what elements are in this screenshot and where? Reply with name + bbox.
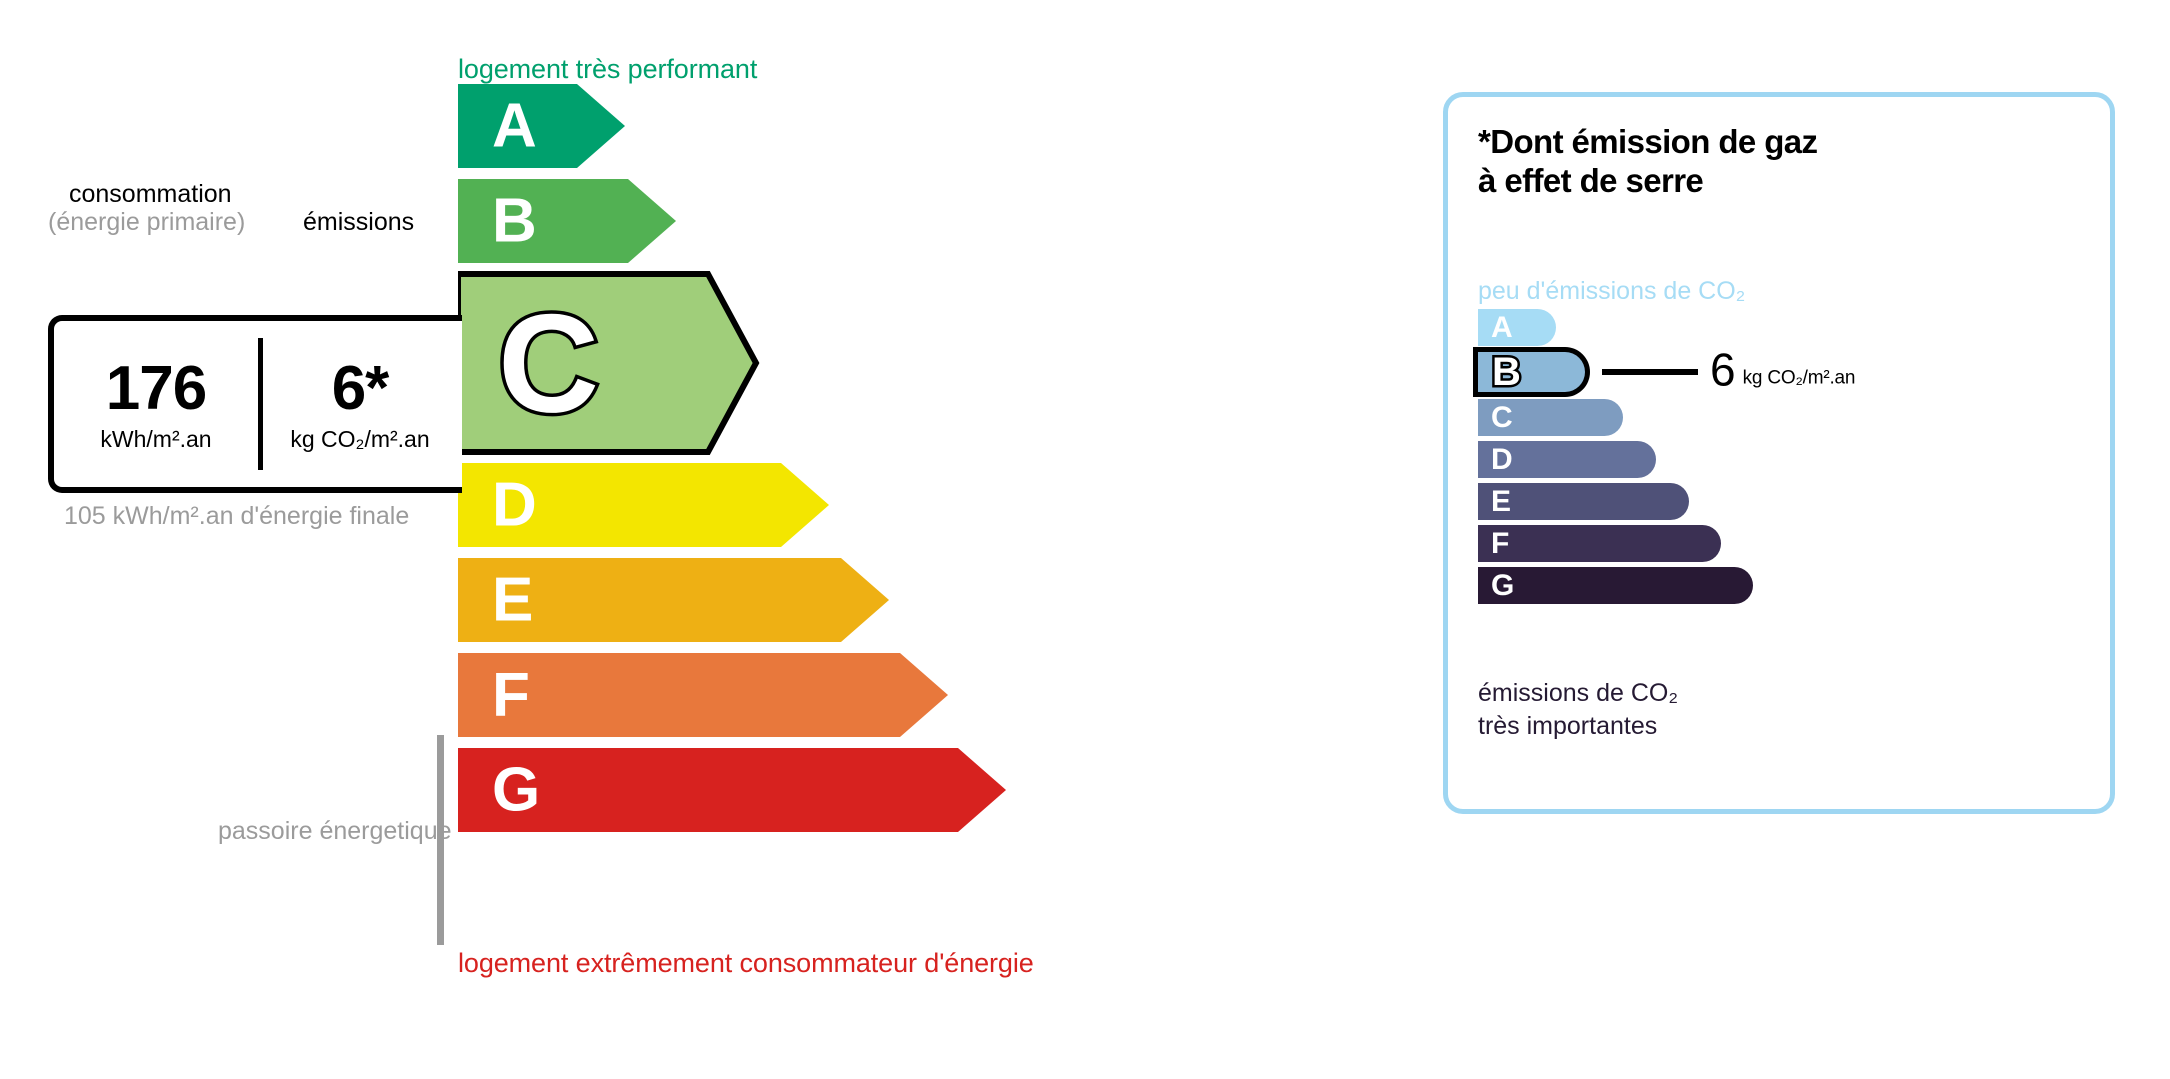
energy-bar-letter: C xyxy=(498,285,599,442)
label-passoire-energetique: passoire énergetique xyxy=(218,815,418,849)
label-energie-primaire: (énergie primaire) xyxy=(48,208,245,237)
consumption-unit: kWh/m².an xyxy=(100,428,211,451)
co2-bar-shape xyxy=(1478,309,1556,346)
energy-bar-letter: D xyxy=(492,471,537,540)
emission-cell: 6* kg CO₂/m².an xyxy=(258,321,462,487)
emission-value: 6* xyxy=(332,358,389,420)
co2-bar-shape xyxy=(1478,483,1689,520)
co2-bar-shape xyxy=(1478,347,1590,397)
co2-value-unit: kg CO₂/m².an xyxy=(1743,368,1856,389)
co2-emissions-panel: *Dont émission de gaz à effet de serre p… xyxy=(1443,92,2115,814)
energy-bar-letter: G xyxy=(492,756,540,825)
energy-bar-f: F xyxy=(458,653,948,737)
co2-bottom-caption: émissions de CO₂ très importantes xyxy=(1478,677,1678,743)
emission-unit: kg CO₂/m².an xyxy=(290,428,429,451)
value-box: 176 kWh/m².an 6* kg CO₂/m².an xyxy=(48,315,462,493)
energy-bar-c: C xyxy=(458,274,756,452)
consumption-value: 176 xyxy=(106,358,206,420)
energy-bar-letter: A xyxy=(492,92,537,161)
energy-bar-a: A xyxy=(458,84,625,168)
energy-bar-shape xyxy=(458,179,676,263)
co2-panel-title: *Dont émission de gaz à effet de serre xyxy=(1478,123,1817,201)
energy-bottom-caption: logement extrêmement consommateur d'éner… xyxy=(458,948,1034,979)
co2-value-connector xyxy=(1602,369,1698,375)
energy-consumption-panel: logement très performant ABCDEFG logemen… xyxy=(0,0,1340,1079)
energy-bar-b: B xyxy=(458,179,676,263)
energy-bar-shape xyxy=(458,84,625,168)
dpe-energy-label: logement très performant ABCDEFG logemen… xyxy=(0,0,2170,1079)
co2-bar-shape xyxy=(1478,567,1753,604)
energy-bar-shape xyxy=(458,653,948,737)
co2-value: 6kg CO₂/m².an xyxy=(1710,347,1855,393)
energy-bar-letter: B xyxy=(492,187,537,256)
consumption-cell: 176 kWh/m².an xyxy=(54,321,258,487)
energy-bar-g: G xyxy=(458,748,1006,832)
energy-bar-e: E xyxy=(458,558,889,642)
energy-class-bars: ABCDEFG xyxy=(458,84,1098,853)
label-energie-finale: 105 kWh/m².an d'énergie finale xyxy=(64,500,409,534)
label-emissions: émissions xyxy=(303,208,414,237)
energy-bar-letter: F xyxy=(492,661,530,730)
energy-bar-d: D xyxy=(458,463,829,547)
co2-top-caption: peu d'émissions de CO₂ xyxy=(1478,277,1745,306)
energy-top-caption: logement très performant xyxy=(458,54,757,85)
co2-bar-shape xyxy=(1478,399,1623,436)
co2-bar-shape xyxy=(1478,525,1721,562)
co2-bar-shape xyxy=(1478,441,1656,478)
energy-bar-letter: E xyxy=(492,566,533,635)
label-consommation: consommation xyxy=(69,180,232,209)
